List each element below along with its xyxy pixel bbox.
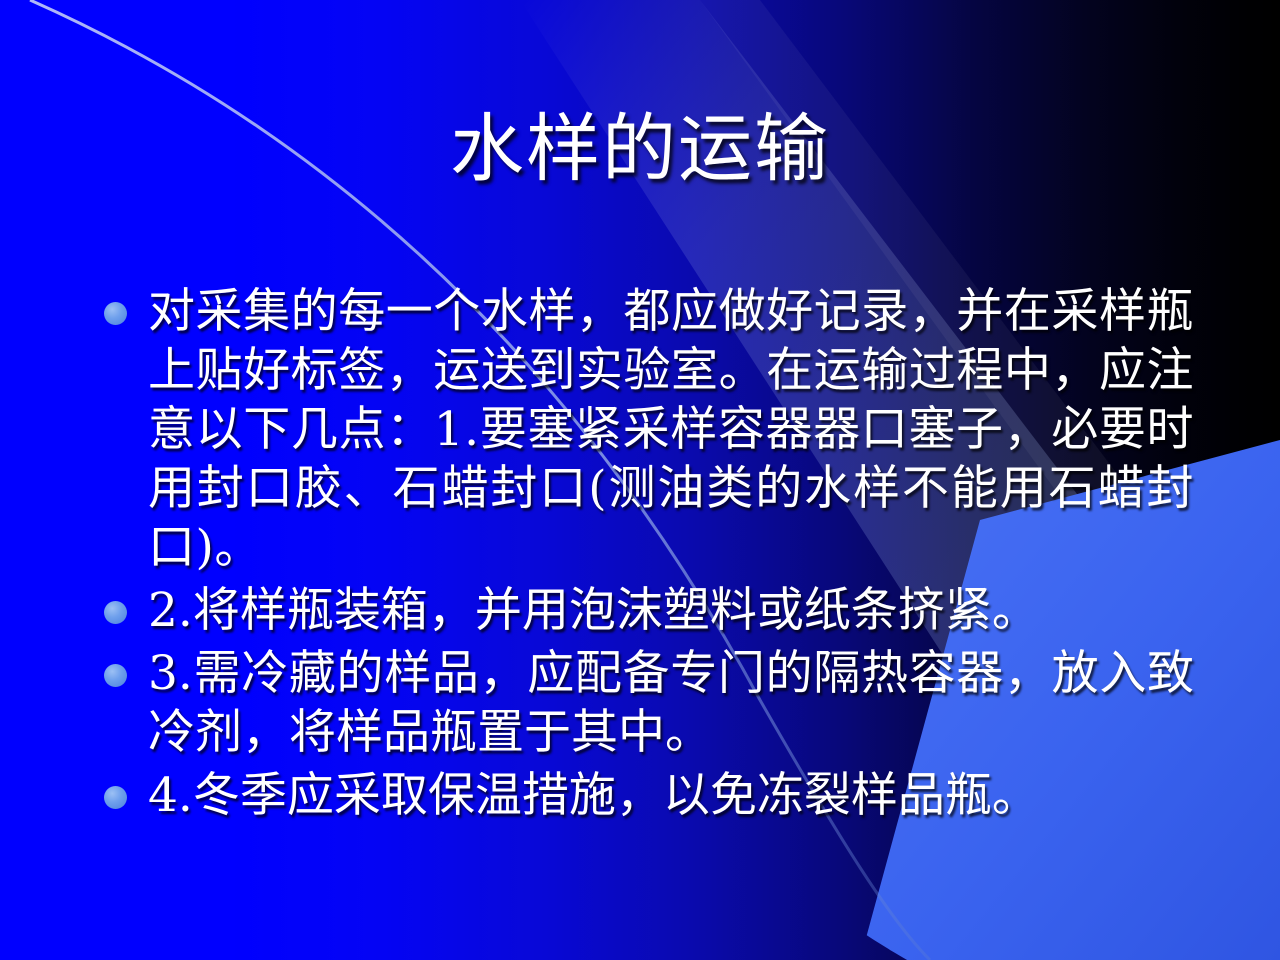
list-item-text: 4.冬季应采取保温措施，以免冻裂样品瓶。 — [148, 766, 1194, 825]
bullet-disc-icon — [104, 786, 127, 809]
bullet-disc-icon — [104, 302, 127, 325]
list-item-text: 3.需冷藏的样品，应配备专门的隔热容器，放入致冷剂，将样品瓶置于其中。 — [148, 644, 1194, 762]
bullet-disc-icon — [104, 601, 127, 624]
list-item-text: 对采集的每一个水样，都应做好记录，并在采样瓶上贴好标签，运送到实验室。在运输过程… — [148, 282, 1194, 577]
bullet-disc-icon — [104, 664, 127, 687]
presentation-slide: 水样的运输 对采集的每一个水样，都应做好记录，并在采样瓶上贴好标签，运送到实验室… — [0, 0, 1280, 960]
list-item: 3.需冷藏的样品，应配备专门的隔热容器，放入致冷剂，将样品瓶置于其中。 — [104, 644, 1194, 762]
list-item: 对采集的每一个水样，都应做好记录，并在采样瓶上贴好标签，运送到实验室。在运输过程… — [104, 282, 1194, 577]
slide-title: 水样的运输 — [0, 112, 1280, 186]
list-item: 4.冬季应采取保温措施，以免冻裂样品瓶。 — [104, 766, 1194, 825]
list-item-text: 2.将样瓶装箱，并用泡沫塑料或纸条挤紧。 — [148, 581, 1194, 640]
list-item: 2.将样瓶装箱，并用泡沫塑料或纸条挤紧。 — [104, 581, 1194, 640]
slide-body-list: 对采集的每一个水样，都应做好记录，并在采样瓶上贴好标签，运送到实验室。在运输过程… — [104, 282, 1194, 829]
